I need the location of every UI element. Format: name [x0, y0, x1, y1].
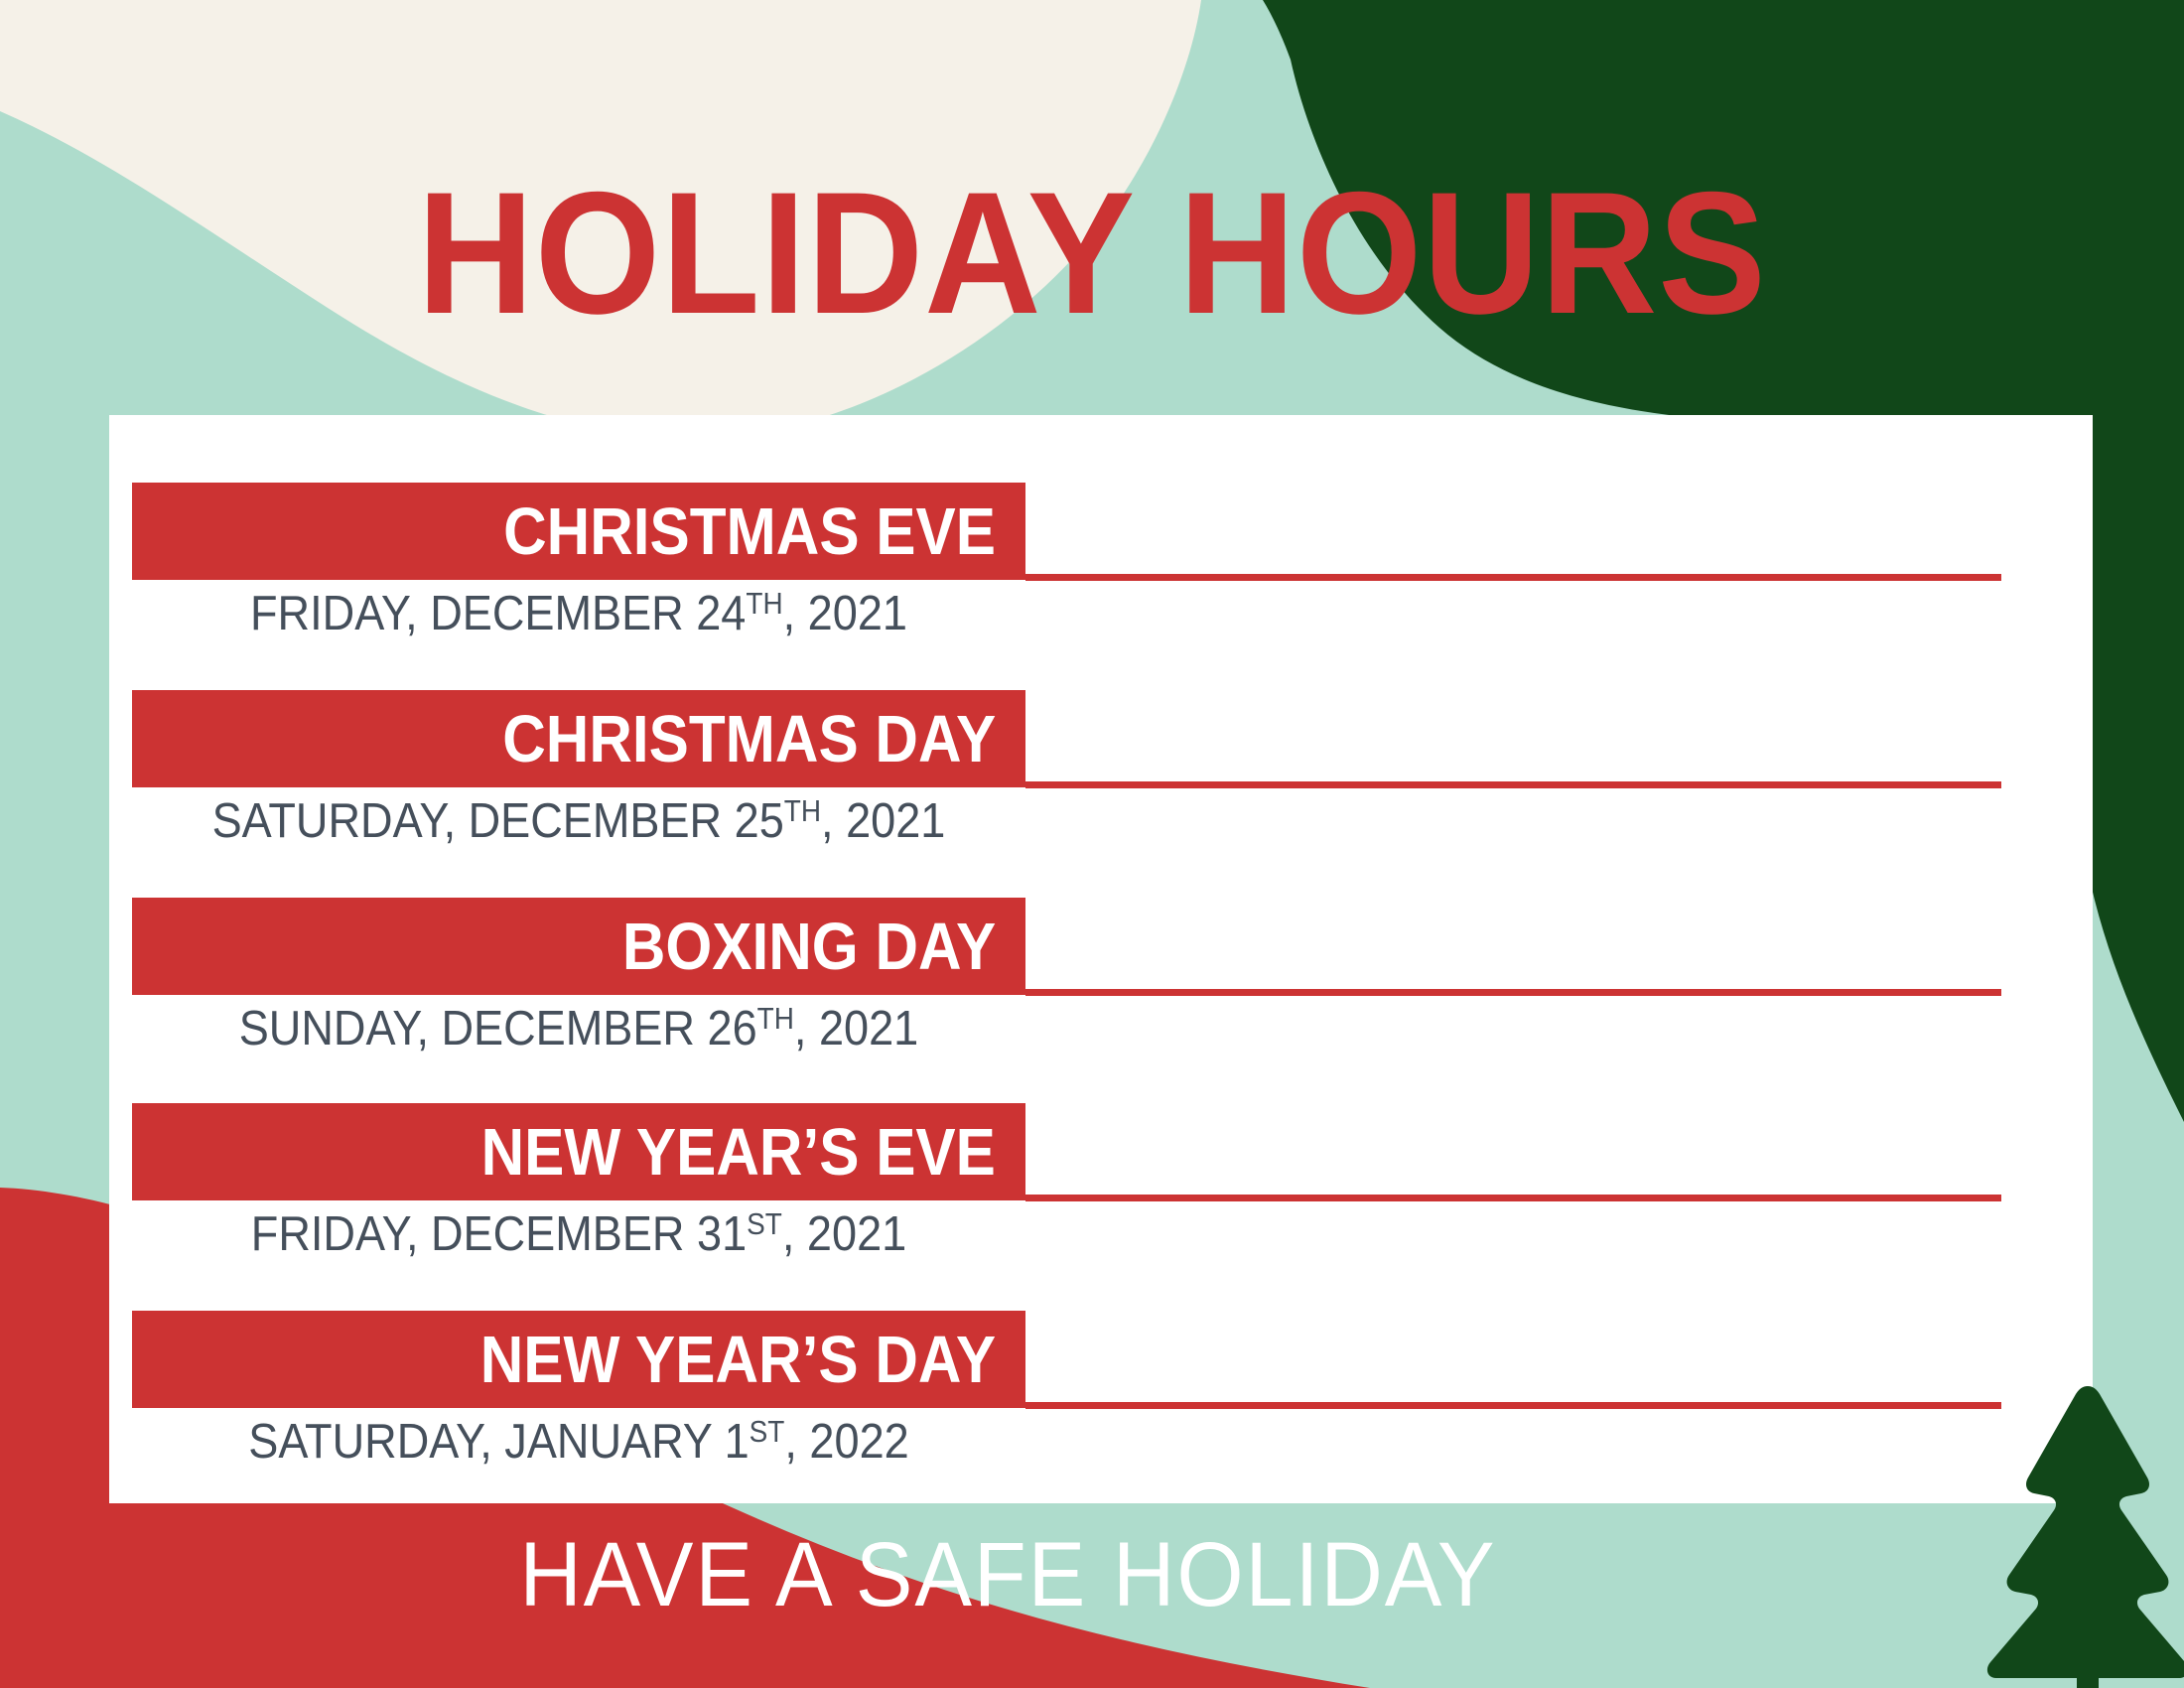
- holiday-date: SATURDAY, JANUARY 1ST, 2022: [168, 1414, 990, 1470]
- holiday-label-block: NEW YEAR’S DAY: [132, 1311, 1025, 1408]
- holiday-date: SUNDAY, DECEMBER 26TH, 2021: [168, 1001, 990, 1056]
- hours-write-in-rule: [1025, 1195, 2001, 1201]
- schedule-rows: CHRISTMAS EVE FRIDAY, DECEMBER 24TH, 202…: [109, 415, 2093, 1503]
- date-suffix: , 2022: [784, 1415, 908, 1469]
- date-ordinal: TH: [784, 794, 821, 828]
- hours-write-in-rule: [1025, 1402, 2001, 1409]
- date-ordinal: TH: [757, 1002, 794, 1036]
- date-suffix: , 2021: [794, 1002, 918, 1055]
- schedule-card: CHRISTMAS EVE FRIDAY, DECEMBER 24TH, 202…: [109, 415, 2093, 1503]
- holiday-hours-poster: HOLIDAY HOURS CHRISTMAS EVE FRIDAY, DECE…: [0, 0, 2184, 1688]
- hours-write-in-rule: [1025, 781, 2001, 788]
- footer-message: HAVE A SAFE HOLIDAY: [66, 1529, 2118, 1620]
- holiday-label-block: BOXING DAY: [132, 898, 1025, 995]
- date-prefix: SATURDAY, JANUARY 1: [248, 1415, 749, 1469]
- date-suffix: , 2021: [782, 1207, 906, 1261]
- holiday-name: BOXING DAY: [622, 914, 996, 980]
- date-suffix: , 2021: [783, 587, 907, 640]
- holiday-date: SATURDAY, DECEMBER 25TH, 2021: [168, 793, 990, 849]
- date-prefix: SUNDAY, DECEMBER 26: [239, 1002, 757, 1055]
- holiday-label-block: CHRISTMAS EVE: [132, 483, 1025, 580]
- date-prefix: FRIDAY, DECEMBER 24: [250, 587, 746, 640]
- holiday-date: FRIDAY, DECEMBER 31ST, 2021: [168, 1206, 990, 1262]
- holiday-name: NEW YEAR’S EVE: [481, 1119, 996, 1186]
- holiday-label-block: NEW YEAR’S EVE: [132, 1103, 1025, 1200]
- holiday-name: CHRISTMAS DAY: [502, 706, 996, 773]
- date-ordinal: TH: [746, 587, 782, 621]
- holiday-date: FRIDAY, DECEMBER 24TH, 2021: [168, 586, 990, 641]
- date-suffix: , 2021: [821, 794, 945, 848]
- date-ordinal: ST: [747, 1207, 782, 1241]
- holiday-name: NEW YEAR’S DAY: [480, 1327, 996, 1393]
- hours-write-in-rule: [1025, 989, 2001, 996]
- date-ordinal: ST: [750, 1415, 785, 1449]
- date-prefix: FRIDAY, DECEMBER 31: [251, 1207, 747, 1261]
- holiday-name: CHRISTMAS EVE: [503, 498, 996, 565]
- holiday-label-block: CHRISTMAS DAY: [132, 690, 1025, 787]
- christmas-tree-icon: [1981, 1382, 2184, 1688]
- page-title: HOLIDAY HOURS: [76, 167, 2108, 341]
- hours-write-in-rule: [1025, 574, 2001, 581]
- date-prefix: SATURDAY, DECEMBER 25: [212, 794, 784, 848]
